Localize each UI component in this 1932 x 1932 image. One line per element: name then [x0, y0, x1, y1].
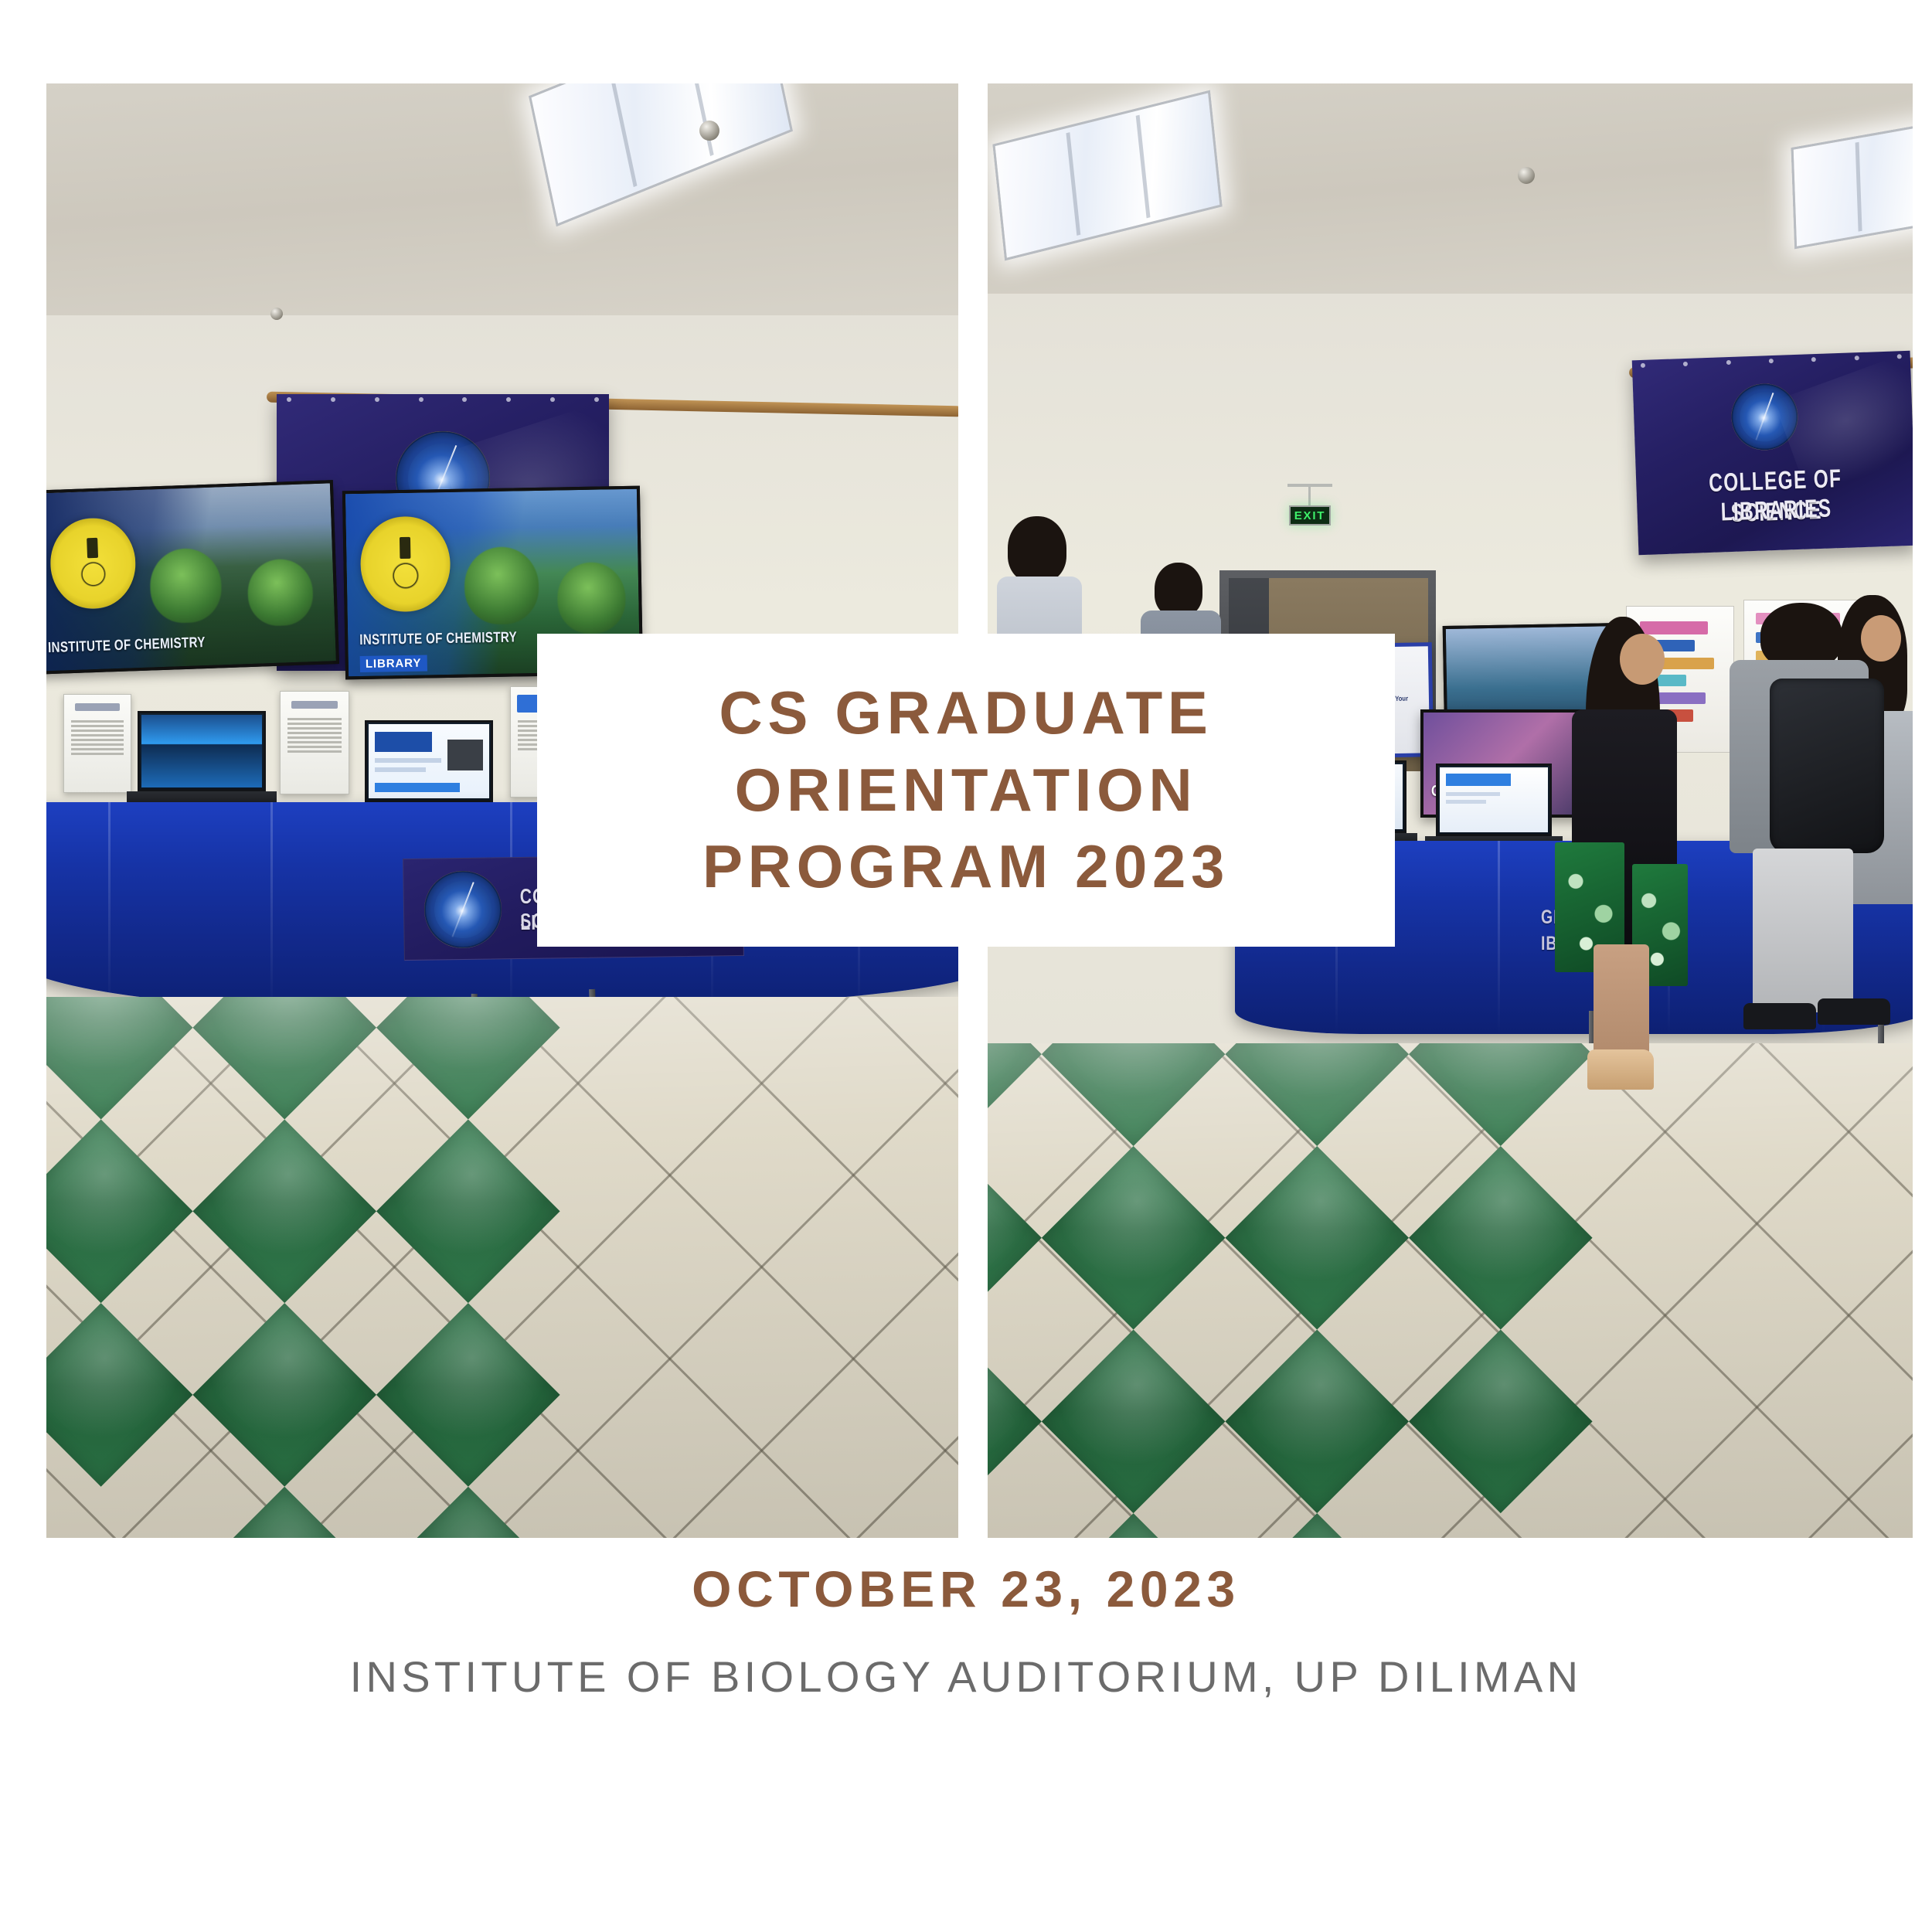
- title-line-2: ORIENTATION: [702, 752, 1230, 829]
- wall-banner-right: COLLEGE OF SCIENCE LIBRARIES: [1632, 351, 1913, 555]
- event-date: OCTOBER 23, 2023: [0, 1561, 1932, 1617]
- flyer-header-bar: [75, 703, 121, 711]
- banner-grommets-left: [287, 397, 599, 402]
- title-card: CS GRADUATE ORIENTATION PROGRAM 2023: [537, 634, 1395, 947]
- title-line-3: PROGRAM 2023: [702, 828, 1230, 906]
- smoke-detector-right: [1518, 167, 1535, 184]
- flyer-text-lines: [287, 718, 342, 753]
- visitor-woman-black-dress: [1546, 617, 1708, 1142]
- laptop-screen-right-2: [1436, 764, 1552, 836]
- laptop-screen-left-2: [365, 720, 493, 802]
- palm-decor-4: [557, 562, 627, 634]
- exit-sign: EXIT: [1289, 505, 1331, 526]
- wedge-sandal: [1587, 1049, 1654, 1090]
- college-seal-icon-table-left: [423, 870, 502, 948]
- title-text-block: CS GRADUATE ORIENTATION PROGRAM 2023: [702, 675, 1230, 906]
- college-seal-icon-right: [1730, 383, 1799, 451]
- smoke-detector-left-b: [270, 308, 283, 320]
- floor-tile-grid-left: [46, 997, 958, 1538]
- laptop-screen-left-1: [138, 711, 266, 791]
- flyer-header-bar: [291, 701, 338, 709]
- tiled-floor-left: [46, 997, 958, 1538]
- laptop-content-2: [369, 724, 489, 798]
- monitor-left-1: INSTITUTE OF CHEMISTRY: [46, 480, 339, 675]
- flyer-text-lines: [71, 720, 124, 755]
- event-venue: INSTITUTE OF BIOLOGY AUDITORIUM, UP DILI…: [0, 1653, 1932, 1701]
- footer: OCTOBER 23, 2023 INSTITUTE OF BIOLOGY AU…: [0, 1561, 1932, 1700]
- backpack: [1770, 679, 1884, 853]
- monitor-badge-left-2: LIBRARY: [360, 655, 427, 673]
- flyer-schedule-left: [63, 694, 131, 793]
- visitor-man-gray-shirt: [1713, 603, 1890, 1144]
- exit-sign-stem: [1308, 485, 1311, 505]
- monitor-caption-left-2: INSTITUTE OF CHEMISTRY: [359, 629, 517, 648]
- laptop-content-right-2: [1440, 767, 1548, 832]
- title-line-1: CS GRADUATE: [702, 675, 1230, 752]
- flyer-services-left: [280, 691, 349, 794]
- smoke-detector-left-a: [699, 121, 719, 141]
- laptop-content-1: [141, 715, 262, 787]
- exit-sign-bar: [1287, 484, 1332, 487]
- poster-canvas: COLLEGE OF SCIENCE LIBRARIES INSTITUTE O…: [0, 0, 1932, 1932]
- palm-decor-3: [464, 546, 539, 625]
- ceiling-left: [46, 83, 958, 338]
